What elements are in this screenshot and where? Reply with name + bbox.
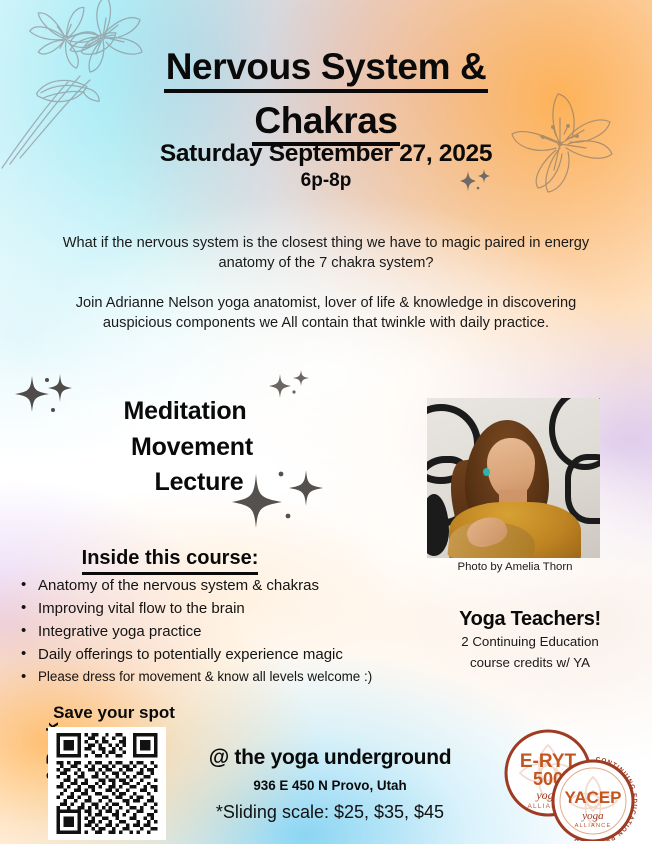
- offerings-list: Meditation Movement Lecture: [60, 394, 310, 501]
- inside-course-heading: Inside this course:: [10, 547, 330, 575]
- pricing-note: *Sliding scale: $25, $35, $45: [170, 802, 490, 823]
- inside-course-list: Anatomy of the nervous system & chakras …: [14, 575, 424, 687]
- instructor-photo: [427, 398, 600, 558]
- photo-credit: Photo by Amelia Thorn: [420, 561, 610, 573]
- list-item: Please dress for movement & know all lev…: [14, 667, 424, 688]
- badge-yacep-label: YACEP: [564, 788, 621, 807]
- poster-title: Nervous System & Chakras: [0, 48, 652, 146]
- title-line-1: Nervous System &: [164, 48, 489, 93]
- event-time: 6p-8p: [0, 170, 652, 192]
- yoga-teachers-credits-line-2: course credits w/ YA: [430, 654, 630, 673]
- photo-face: [487, 438, 535, 498]
- venue-address: 936 E 450 N Provo, Utah: [170, 778, 490, 793]
- event-date: Saturday September 27, 2025: [0, 140, 652, 168]
- invite-paragraph: Join Adrianne Nelson yoga anatomist, lov…: [46, 293, 606, 333]
- list-item: Anatomy of the nervous system & chakras: [14, 575, 424, 598]
- poster-canvas: Nervous System & Chakras Saturday Septem…: [0, 0, 652, 844]
- list-item: Improving vital flow to the brain: [14, 598, 424, 621]
- qr-code-icon[interactable]: [54, 733, 160, 834]
- yoga-alliance-badges: E-RYT 500 yoga ALLIANCE CONTINUING EDUCA…: [490, 723, 650, 841]
- badge-alliance-label: ALLIANCE: [575, 823, 612, 829]
- list-item: Integrative yoga practice: [14, 621, 424, 644]
- photo-earring: [483, 468, 490, 476]
- yoga-teachers-block: Yoga Teachers! 2 Continuing Education co…: [430, 608, 630, 673]
- list-item: Daily offerings to potentially experienc…: [14, 644, 424, 667]
- offering-movement: Movement: [60, 430, 310, 466]
- qr-code[interactable]: [48, 727, 166, 840]
- offering-meditation: Meditation: [60, 394, 310, 430]
- intro-paragraph: What if the nervous system is the closes…: [46, 233, 606, 273]
- offering-lecture: Lecture: [60, 465, 310, 501]
- venue-name: @ the yoga underground: [170, 746, 490, 770]
- yoga-teachers-heading: Yoga Teachers!: [430, 608, 630, 631]
- badge-yoga-label: yoga: [581, 810, 604, 822]
- yoga-teachers-credits-line-1: 2 Continuing Education: [430, 633, 630, 652]
